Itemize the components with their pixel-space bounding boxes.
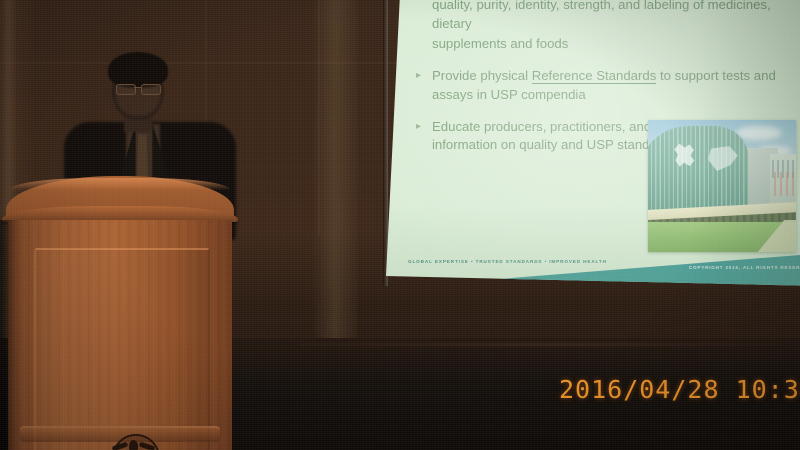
bullet-marker-icon: ▸ — [416, 67, 432, 104]
slide-footer-copyright: COPYRIGHT 2015, ALL RIGHTS RESERVED — [689, 265, 800, 270]
slide-continuation-line-2: supplements and foods — [432, 35, 800, 54]
bullet-text-underlined: Reference Standards — [532, 68, 657, 84]
slide-footer-tagline: GLOBAL EXPERTISE • TRUSTED STANDARDS • I… — [408, 259, 607, 264]
podium-crest-icon — [110, 432, 158, 450]
presentation-photo: quality, purity, identity, strength, and… — [0, 0, 800, 450]
slide-building-photo — [648, 120, 796, 252]
podium-top-highlight — [10, 178, 230, 190]
podium-shadow — [0, 220, 20, 450]
glasses-lens-left — [116, 84, 136, 95]
podium — [0, 176, 240, 450]
projection-screen: quality, purity, identity, strength, and… — [386, 0, 800, 294]
bullet-text-pre: Provide physical — [432, 68, 532, 83]
speaker-hair — [108, 52, 168, 88]
wall-light-panel — [312, 0, 358, 340]
photo-projection-wash — [648, 120, 796, 252]
glasses-bridge — [134, 87, 141, 88]
stage-floor-edge — [300, 343, 800, 346]
glasses-lens-right — [141, 84, 161, 95]
slide-bullet-item: ▸ Provide physical Reference Standards t… — [416, 67, 800, 104]
screen-left-edge — [383, 0, 388, 286]
crest-flame — [129, 440, 138, 450]
camera-timestamp: 2016/04/28 10:38 — [559, 375, 800, 404]
podium-panel — [34, 248, 210, 450]
slide-continuation-line-1: quality, purity, identity, strength, and… — [432, 0, 800, 33]
bullet-text: Provide physical Reference Standards to … — [432, 67, 800, 104]
glasses-icon — [116, 84, 161, 93]
bullet-marker-icon: ▸ — [416, 118, 432, 155]
